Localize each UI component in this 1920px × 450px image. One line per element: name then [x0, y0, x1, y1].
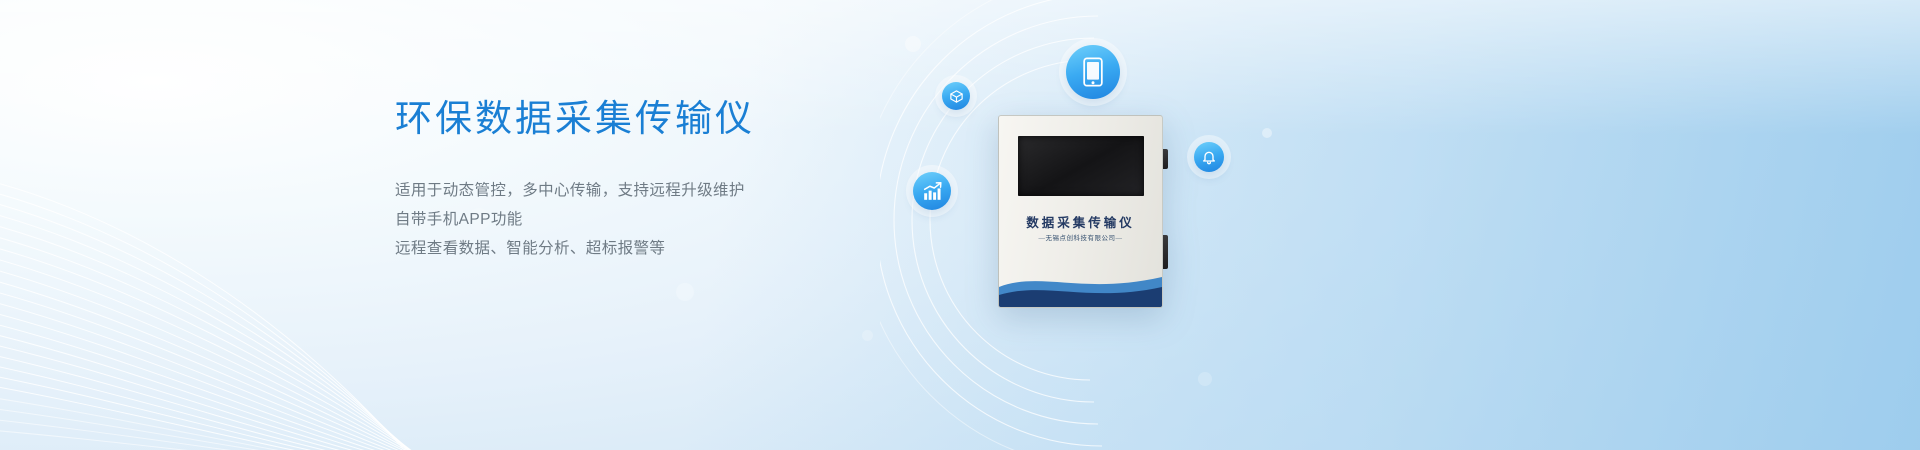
subtitle-line-2: 自带手机APP功能 [395, 205, 915, 234]
device-screen [1018, 136, 1144, 196]
device-side-port-top [1163, 149, 1168, 169]
decorative-bubble [676, 283, 694, 301]
data-acquisition-device: 数据采集传输仪 —无锡点创科技有限公司— [998, 115, 1163, 308]
product-banner: 环保数据采集传输仪 适用于动态管控，多中心传输，支持远程升级维护 自带手机APP… [0, 0, 1920, 450]
alarm-icon[interactable] [1194, 142, 1224, 172]
product-stage: 数据采集传输仪 —无锡点创科技有限公司— [880, 0, 1300, 450]
device-body: 数据采集传输仪 —无锡点创科技有限公司— [998, 115, 1163, 308]
device-side-port-bottom [1163, 235, 1168, 269]
subtitle-line-1: 适用于动态管控，多中心传输，支持远程升级维护 [395, 176, 915, 205]
device-wave-graphic [999, 261, 1162, 307]
smartphone-icon[interactable] [1066, 45, 1120, 99]
device-label: 数据采集传输仪 [999, 212, 1162, 231]
decorative-bubble [862, 330, 873, 341]
device-sublabel: —无锡点创科技有限公司— [999, 232, 1162, 242]
device-screen-bezel [1012, 130, 1150, 202]
page-title: 环保数据采集传输仪 [395, 96, 915, 142]
banner-copy: 环保数据采集传输仪 适用于动态管控，多中心传输，支持远程升级维护 自带手机APP… [395, 96, 915, 263]
subtitle-line-3: 远程查看数据、智能分析、超标报警等 [395, 234, 915, 263]
package-icon[interactable] [942, 82, 970, 110]
bar-chart-icon[interactable] [913, 172, 951, 210]
